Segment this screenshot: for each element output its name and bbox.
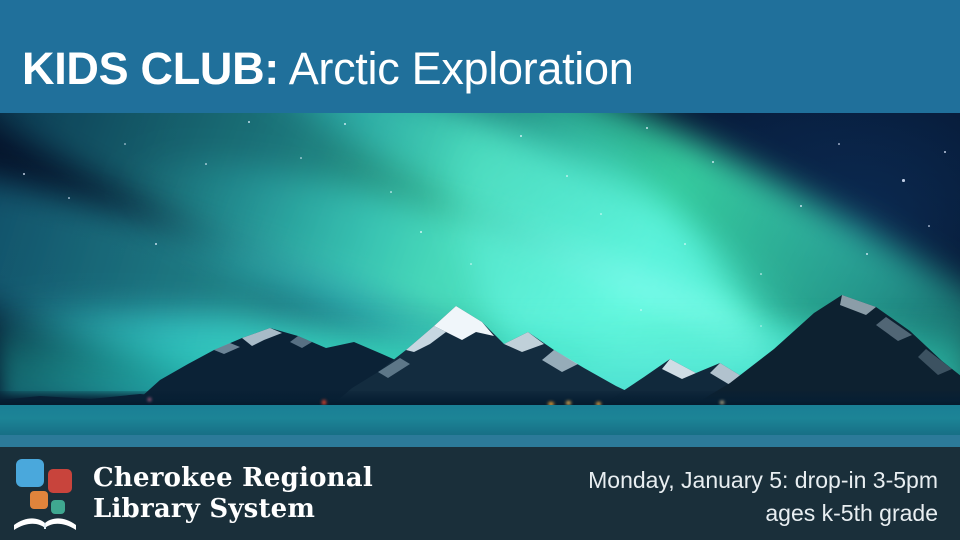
page-title: KIDS CLUB: Arctic Exploration xyxy=(22,40,633,98)
event-date-time: Monday, January 5: drop-in 3-5pm xyxy=(588,464,938,497)
org-name-line2: Library System xyxy=(93,494,373,525)
page-title-strong: KIDS CLUB: xyxy=(22,43,279,94)
mountain-right xyxy=(690,279,960,407)
footer-bar: Cherokee Regional Library System Monday,… xyxy=(0,447,960,540)
header-bar: KIDS CLUB: Arctic Exploration xyxy=(0,0,960,113)
shore-light-white xyxy=(720,401,724,404)
library-logo-icon xyxy=(10,455,82,533)
page-title-rest: Arctic Exploration xyxy=(279,43,633,94)
event-flyer: KIDS CLUB: Arctic Exploration xyxy=(0,0,960,540)
aurora-photo xyxy=(0,113,960,435)
fjord-water xyxy=(0,405,960,435)
organization-name: Cherokee Regional Library System xyxy=(93,463,373,525)
accent-stripe xyxy=(0,435,960,447)
event-details: Monday, January 5: drop-in 3-5pm ages k-… xyxy=(588,464,938,530)
org-name-line1: Cherokee Regional xyxy=(93,463,373,494)
shore-light-pink xyxy=(148,398,151,401)
event-age-range: ages k-5th grade xyxy=(588,497,938,530)
